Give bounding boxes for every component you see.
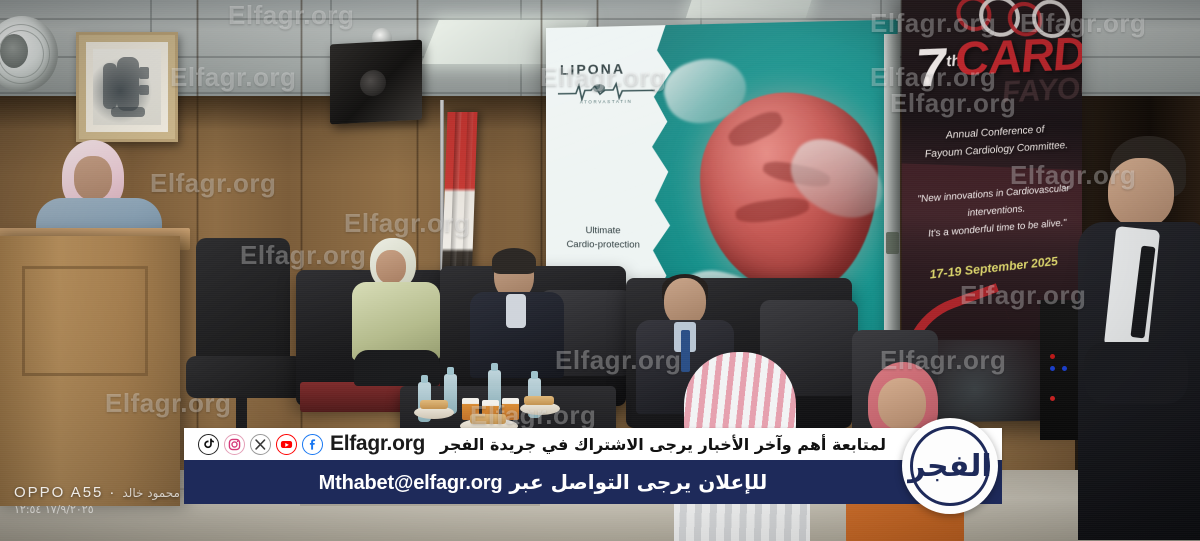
standing-man-arm — [1084, 342, 1188, 404]
camera-separator: · — [109, 484, 116, 501]
slide-tagline: Ultimate Cardio-protection — [560, 224, 647, 253]
camera-owner-name: محمود خالد — [122, 486, 180, 500]
screenshot-root: LIPONA ATORVASTATIN Ultimate Cardio-prot… — [0, 0, 1200, 541]
x-twitter-icon[interactable] — [250, 434, 271, 455]
instagram-icon[interactable] — [224, 434, 245, 455]
facebook-icon[interactable] — [302, 434, 323, 455]
wall-speaker — [330, 40, 422, 125]
panelist-jacket — [352, 282, 440, 360]
standing-man-face — [1108, 158, 1174, 228]
social-icons-group[interactable] — [184, 434, 323, 455]
panelist-face — [376, 250, 406, 284]
panelist-head — [664, 278, 706, 326]
panelist-woman-with-mic — [352, 238, 444, 378]
ceiling-light-panel — [686, 0, 814, 18]
tiktok-icon[interactable] — [198, 434, 219, 455]
promo-banner: Elfagr.org لمتابعة أهم وآخر الأخبار يرجى… — [184, 428, 1002, 504]
edition-digit: 7 — [913, 38, 950, 99]
elfagr-logo-text: الفجر — [910, 426, 990, 506]
pastry — [470, 414, 506, 424]
panelist-hair — [492, 248, 536, 274]
wall-fan-icon — [0, 10, 70, 106]
promo-arabic-line2: للإعلان يرجى التواصل عبر — [509, 470, 767, 494]
camera-watermark-date: ١٧/٩/٢٠٢٥ ١٢:٥٤ — [14, 503, 94, 516]
elfagr-logo[interactable]: الفجر — [902, 418, 998, 514]
camera-watermark: OPPO A55 · محمود خالد — [14, 484, 180, 501]
framed-picture — [76, 32, 178, 142]
rollup-subtitle: FAYOUM — [1000, 70, 1082, 111]
slide-brand-name: LIPONA — [560, 60, 653, 78]
rollup-organizer: Annual Conference of Fayoum Cardiology C… — [919, 120, 1071, 164]
pastry — [524, 396, 554, 405]
promo-website[interactable]: Elfagr.org — [330, 432, 425, 456]
promo-email[interactable]: Mthabet@elfagr.org — [319, 472, 503, 494]
office-chair — [196, 238, 290, 370]
podium-inlay — [22, 266, 148, 376]
ecg-line-icon — [558, 80, 655, 102]
promo-contact-line: للإعلان يرجى التواصل عبر Mthabet@elfagr.… — [319, 470, 868, 495]
slide-tagline-line2: Cardio-protection — [560, 238, 647, 253]
panelist-shirt — [506, 294, 526, 328]
audience-face — [878, 378, 926, 430]
camera-device-name: OPPO A55 — [14, 484, 103, 501]
rollup-dates: 17-19 September 2025 — [916, 253, 1070, 283]
promo-banner-navy-bar: للإعلان يرجى التواصل عبر Mthabet@elfagr.… — [184, 460, 1002, 504]
screen-edge — [884, 34, 900, 380]
screen-clip — [886, 232, 899, 254]
fan-head — [0, 16, 58, 92]
speaker-face — [74, 156, 112, 200]
picture-artwork — [93, 49, 161, 125]
youtube-icon[interactable] — [276, 434, 297, 455]
slide-tagline-line1: Ultimate — [560, 224, 647, 239]
standing-man-right — [1078, 136, 1200, 540]
panelist-man-center — [470, 252, 564, 396]
office-chair-seat — [186, 356, 304, 398]
promo-banner-white-bar: Elfagr.org لمتابعة أهم وآخر الأخبار يرجى… — [184, 428, 1002, 460]
pastry — [420, 400, 448, 409]
